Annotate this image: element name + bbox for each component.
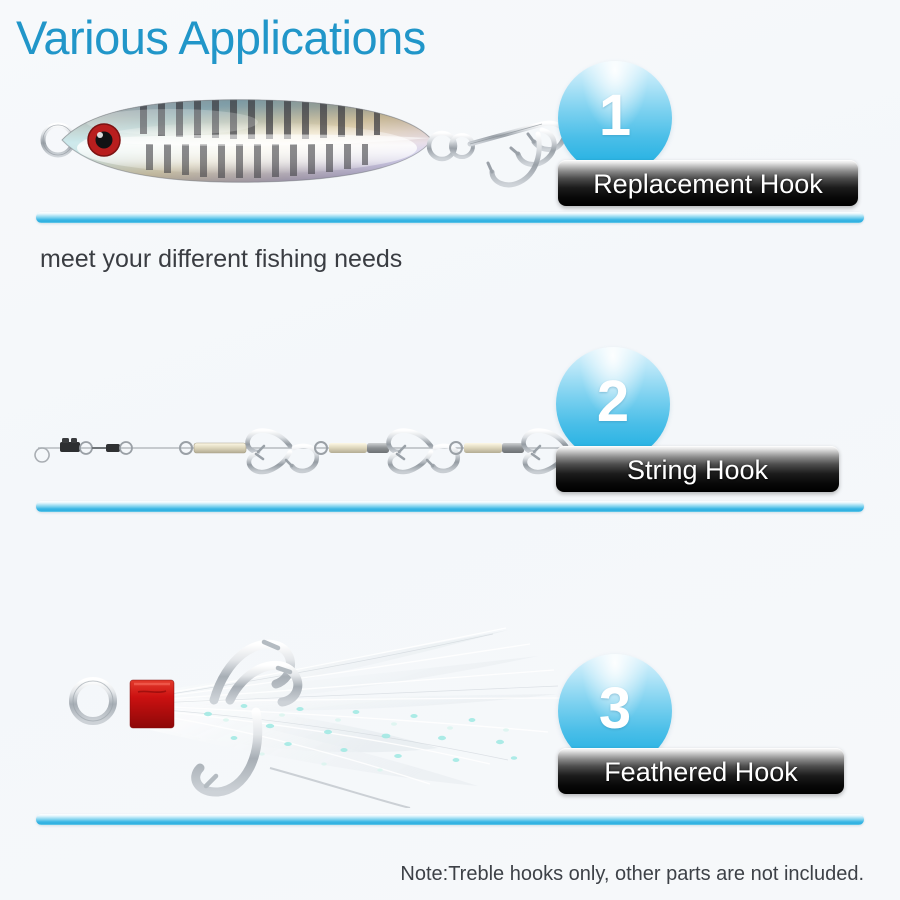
- treble-hook-1: [180, 431, 317, 472]
- treble-hook-2: [315, 431, 458, 472]
- step-badge-1: 1: [558, 61, 672, 175]
- step-label-plate-3: Feathered Hook: [558, 748, 844, 794]
- section-divider-2: [36, 501, 864, 512]
- feathered-hook-image: [38, 608, 583, 808]
- lure-eye: [88, 124, 120, 156]
- step-number-3: 3: [599, 680, 631, 738]
- step-label-2: String Hook: [627, 455, 768, 485]
- step-number-2: 2: [597, 373, 629, 431]
- metal-jig-lure-icon: [22, 78, 582, 208]
- page-title: Various Applications: [16, 8, 426, 68]
- section-divider-3: [36, 814, 864, 825]
- sub-caption: meet your different fishing needs: [40, 243, 402, 275]
- string-hook-rig-image: [28, 420, 573, 510]
- treble-hook-3: [450, 431, 573, 472]
- step-badge-2: 2: [556, 347, 670, 461]
- step-label-3: Feathered Hook: [604, 757, 798, 787]
- step-label-plate-1: Replacement Hook: [558, 160, 858, 206]
- step-label-plate-2: String Hook: [556, 446, 839, 492]
- swivel-assembly: [35, 438, 132, 462]
- red-collar: [130, 680, 174, 728]
- split-ring-tail: [429, 133, 473, 159]
- step-number-1: 1: [599, 87, 631, 145]
- feathered-hook-icon: [38, 608, 583, 808]
- infographic-page: Various Applications: [0, 0, 900, 900]
- string-hook-rig-icon: [28, 420, 573, 510]
- metal-jig-lure-image: [22, 78, 582, 208]
- bottom-note: Note:Treble hooks only, other parts are …: [400, 860, 864, 888]
- step-label-1: Replacement Hook: [593, 169, 823, 199]
- section-divider-1: [36, 212, 864, 223]
